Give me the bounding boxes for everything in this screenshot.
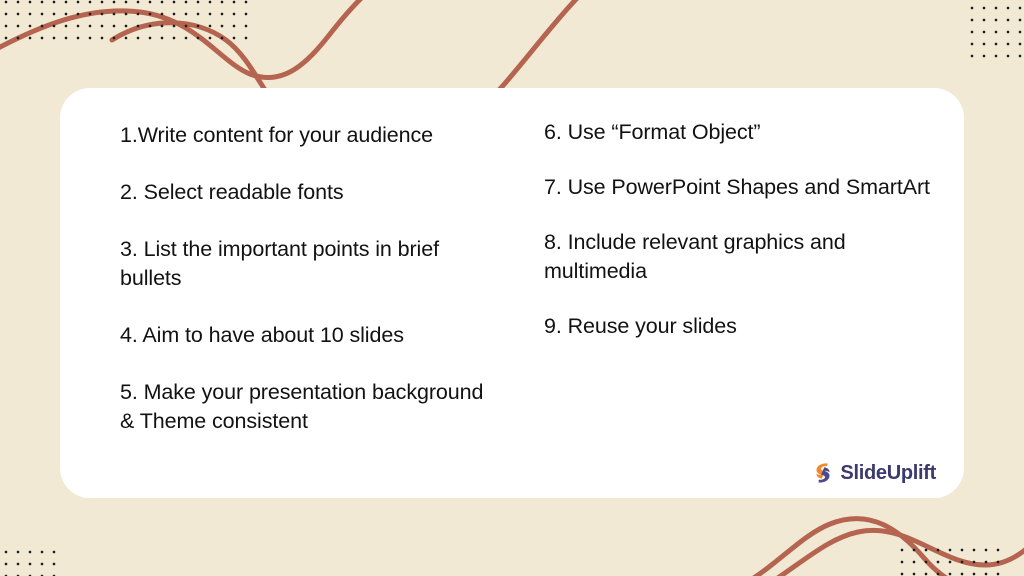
slideuplift-swoosh-icon [813,462,833,484]
left-column: 1.Write content for your audience 2. Sel… [60,88,512,498]
right-list: 6. Use “Format Object” 7. Use PowerPoint… [544,118,934,341]
list-item: 9. Reuse your slides [544,312,934,341]
list-item: 3. List the important points in brief bu… [120,235,490,293]
list-item: 4. Aim to have about 10 slides [120,321,490,350]
list-item: 8. Include relevant graphics and multime… [544,228,934,286]
dot-grid-top-left [0,0,252,48]
left-list: 1.Write content for your audience 2. Sel… [120,121,490,436]
list-item: 7. Use PowerPoint Shapes and SmartArt [544,173,934,202]
list-item: 6. Use “Format Object” [544,118,934,147]
brand-logo[interactable]: SlideUplift [813,462,936,484]
list-item: 5. Make your presentation background & T… [120,378,490,436]
right-column: 6. Use “Format Object” 7. Use PowerPoint… [512,88,964,498]
logo-text: SlideUplift [840,463,936,483]
content-card: 1.Write content for your audience 2. Sel… [60,88,964,498]
list-item: 1.Write content for your audience [120,121,490,150]
content-columns: 1.Write content for your audience 2. Sel… [60,88,964,498]
slide-canvas: 1.Write content for your audience 2. Sel… [0,0,1024,576]
dot-grid-bottom-left [0,546,62,576]
dot-grid-top-right [966,2,1024,60]
list-item: 2. Select readable fonts [120,178,490,207]
dot-grid-bottom-right [896,544,1000,576]
